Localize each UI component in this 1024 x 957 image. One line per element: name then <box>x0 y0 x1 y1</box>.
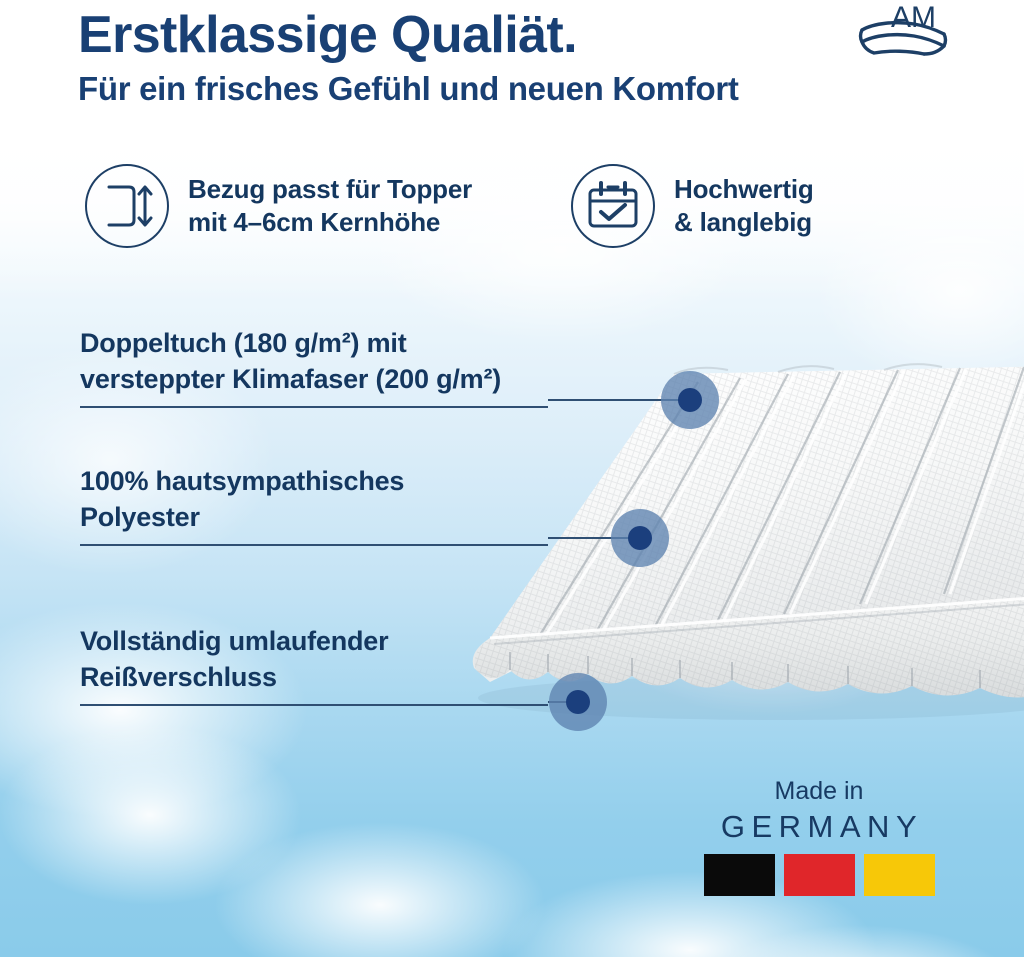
callout-rule <box>80 544 548 546</box>
callout-fabric: Doppeltuch (180 g/m²) mit versteppter Kl… <box>80 326 548 408</box>
callout-zipper: Vollständig umlaufender Reißverschluss <box>80 624 548 706</box>
marker-dot <box>678 388 702 412</box>
made-in-label: Made in <box>700 778 938 806</box>
feature-durability: Hochwertig & langlebig <box>570 163 814 249</box>
flag-stripe-black <box>704 854 775 896</box>
flag-stripe-red <box>784 854 855 896</box>
mattress-height-arrow-icon <box>84 163 170 249</box>
feature-topper-height: Bezug passt für Topper mit 4–6cm Kernhöh… <box>84 163 472 249</box>
svg-text:AM: AM <box>891 4 936 34</box>
germany-label: GERMANY <box>700 808 938 847</box>
calendar-check-icon <box>570 163 656 249</box>
callout-line-2: Polyester <box>80 502 200 532</box>
feature-line-2: & langlebig <box>674 207 812 237</box>
german-flag <box>700 854 938 896</box>
feature-line-1: Hochwertig <box>674 174 814 204</box>
made-in-germany-badge: Made in GERMANY <box>700 778 938 896</box>
callout-line-1: 100% hautsympathisches <box>80 466 404 496</box>
feature-topper-height-label: Bezug passt für Topper mit 4–6cm Kernhöh… <box>188 173 472 240</box>
callout-rule <box>80 704 548 706</box>
feature-line-2: mit 4–6cm Kernhöhe <box>188 207 440 237</box>
header: Erstklassige Qualiät. Für ein frisches G… <box>78 8 858 108</box>
marker-dot <box>628 526 652 550</box>
callout-rule <box>80 406 548 408</box>
callout-marker-fabric[interactable] <box>661 371 719 429</box>
am-mattress-logo: AM <box>852 4 962 62</box>
infographic-canvas: Erstklassige Qualiät. Für ein frisches G… <box>0 0 1024 957</box>
callout-polyester: 100% hautsympathisches Polyester <box>80 464 548 546</box>
feature-durability-label: Hochwertig & langlebig <box>674 173 814 240</box>
flag-stripe-gold <box>864 854 935 896</box>
marker-dot <box>566 690 590 714</box>
callout-zipper-text: Vollständig umlaufender Reißverschluss <box>80 624 548 695</box>
callout-marker-zipper[interactable] <box>549 673 607 731</box>
page-subtitle: Für ein frisches Gefühl und neuen Komfor… <box>78 70 858 108</box>
feature-line-1: Bezug passt für Topper <box>188 174 472 204</box>
callout-line-1: Doppeltuch (180 g/m²) mit <box>80 328 407 358</box>
callout-line-1: Vollständig umlaufender <box>80 626 388 656</box>
callout-line-2: versteppter Klimafaser (200 g/m²) <box>80 364 501 394</box>
callout-fabric-text: Doppeltuch (180 g/m²) mit versteppter Kl… <box>80 326 548 397</box>
callout-marker-polyester[interactable] <box>611 509 669 567</box>
callout-line-2: Reißverschluss <box>80 662 277 692</box>
callout-polyester-text: 100% hautsympathisches Polyester <box>80 464 548 535</box>
page-title: Erstklassige Qualiät. <box>78 8 858 63</box>
